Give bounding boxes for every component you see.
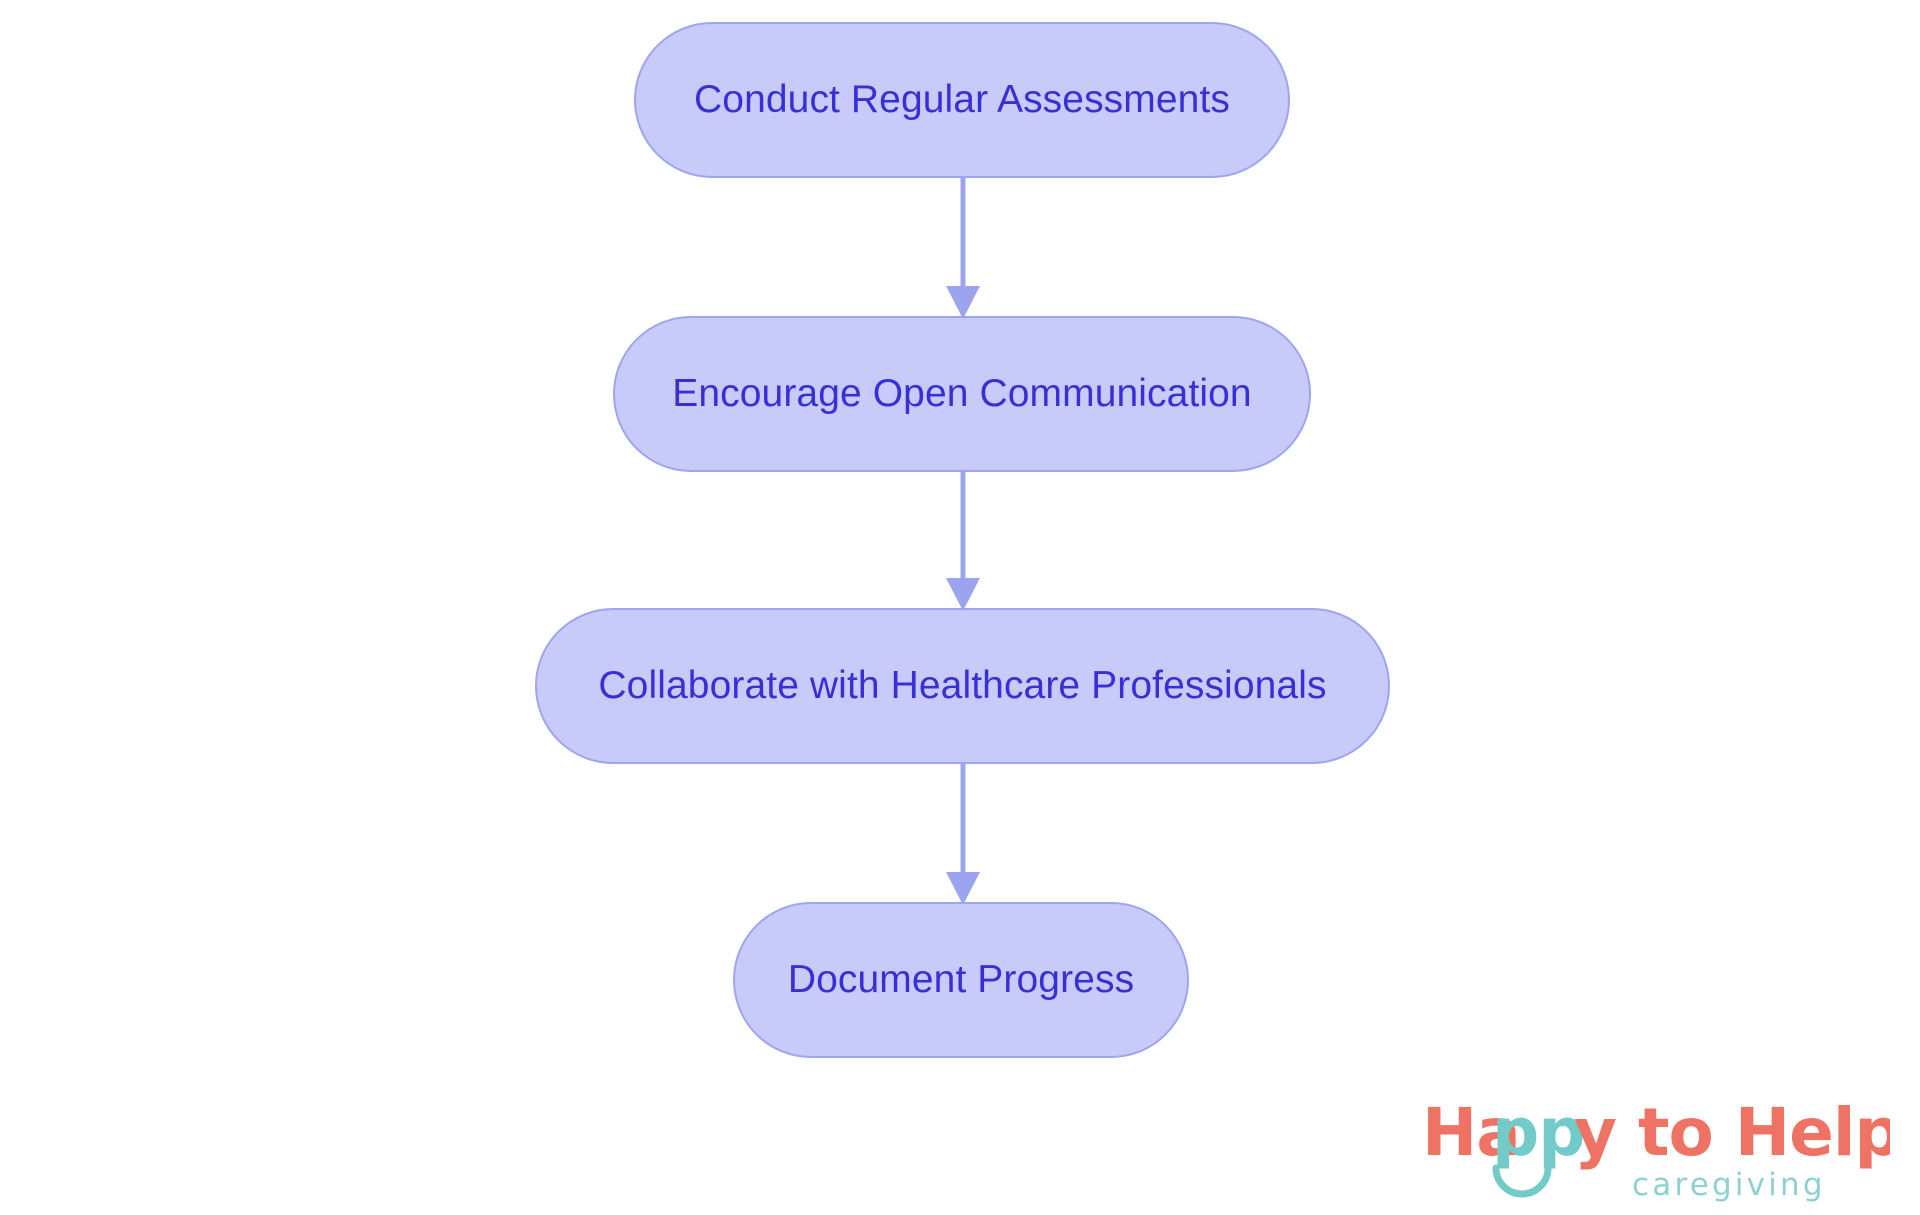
smile-arc-icon [1496, 1168, 1548, 1194]
flow-node-document-progress[interactable]: Document Progress [733, 902, 1189, 1058]
flow-node-label: Conduct Regular Assessments [694, 78, 1230, 122]
flow-node-label: Document Progress [788, 958, 1134, 1002]
logo-word-part-3: y to Help [1574, 1098, 1890, 1171]
brand-logo: Ha pp y to Help caregiving [1422, 1098, 1890, 1202]
logo-word-part-2: pp [1492, 1098, 1585, 1171]
flowchart-canvas: Conduct Regular Assessments Encourage Op… [0, 0, 1920, 1215]
logo-tagline: caregiving [1632, 1167, 1826, 1202]
flow-node-label: Collaborate with Healthcare Professional… [598, 664, 1326, 708]
flow-node-collaborate-with-healthcare-professionals[interactable]: Collaborate with Healthcare Professional… [535, 608, 1390, 764]
flow-edge-arrow-3 [945, 762, 981, 906]
flow-edge-arrow-1 [945, 176, 981, 320]
flow-node-encourage-open-communication[interactable]: Encourage Open Communication [613, 316, 1311, 472]
flow-node-label: Encourage Open Communication [672, 372, 1251, 416]
flow-edge-arrow-2 [945, 470, 981, 612]
flow-node-conduct-regular-assessments[interactable]: Conduct Regular Assessments [634, 22, 1290, 178]
